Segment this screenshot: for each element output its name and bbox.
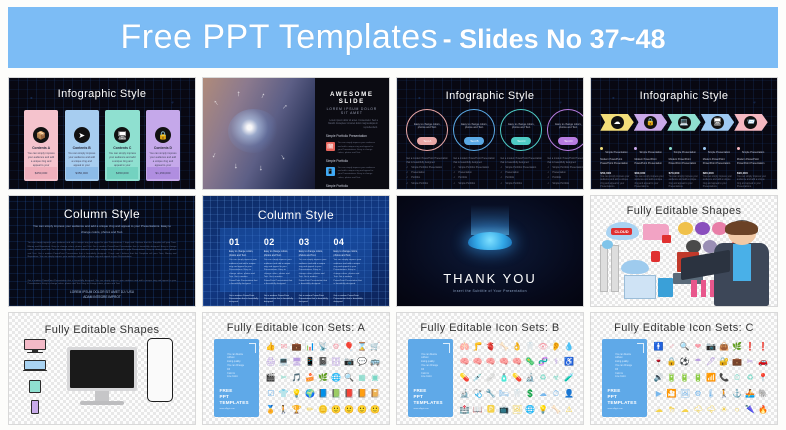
- legend-body: You can simply impress your audience and…: [669, 176, 700, 189]
- icon-camera-icon: 📷: [344, 358, 354, 366]
- icon-brain1-icon: 🧠: [460, 358, 470, 366]
- circle-item[interactable]: Easy to change colors, photos and Text. …: [500, 109, 542, 185]
- icon-brain4-icon: 🧠: [499, 358, 509, 366]
- icon-animal-icon: 🐘: [758, 390, 768, 398]
- icon-thermometer-icon: 🌡: [706, 390, 716, 398]
- icon-padlock-icon: 🔐: [719, 358, 729, 366]
- slide-title: Column Style: [203, 208, 389, 222]
- icon-stethoscope-icon: 🩺: [473, 390, 483, 398]
- icon-exclaim-icon: ❗: [745, 343, 755, 351]
- legend-dot: [600, 147, 603, 150]
- laptop-shape: [624, 275, 656, 299]
- legend-sub2: PowerPoint Presentation: [634, 162, 665, 166]
- icon-chart-icon: 📊: [305, 343, 315, 351]
- card-footer: $250,000: [25, 167, 57, 179]
- legend-heading: Simple Presentation: [742, 151, 764, 154]
- legend-value: $70,000: [669, 171, 700, 175]
- slide-grid: Infographic Style 📦 Contents A You can s…: [8, 77, 778, 425]
- legend-sub2: PowerPoint Presentation: [703, 162, 734, 166]
- ring-text: Easy to change colors, photos and Text.: [548, 123, 583, 131]
- icon-globe2-icon: 🌍: [305, 390, 315, 398]
- info-card[interactable]: 🖥 Contents C You can simply impress your…: [105, 110, 139, 181]
- slide-thumbnail-42[interactable]: Column Style 01 Easy to change colors, p…: [202, 195, 390, 308]
- legend-heading: Simple Presentation: [708, 151, 730, 154]
- bullet: Simple Portfolio: [500, 182, 542, 186]
- slide-subtitle: LOREM IPSUM DOLOR SIT AMET: [326, 107, 378, 115]
- column-item[interactable]: 01 Easy to change colors, photos and Tex…: [229, 237, 258, 292]
- legend-value: $50,000: [600, 171, 631, 175]
- icon-bed-icon: 🛏: [499, 390, 509, 398]
- icon-rain-icon: 🌩: [693, 406, 703, 414]
- slide-thumbnail-39[interactable]: Infographic Style Easy to change colors,…: [396, 77, 584, 190]
- card-lines: You can Resize without losing quality. Y…: [421, 354, 440, 380]
- businesswoman-illustration: [710, 222, 773, 306]
- card-brand: FREE PPT TEMPLATES: [220, 388, 249, 407]
- slide-canvas: Infographic Style ☁ 🔒 💻 🖥 📨: [591, 78, 777, 189]
- footer-line-2: ADAM INTEGRE IMPROT: [9, 295, 195, 300]
- icon-scissors-icon: ✂: [747, 358, 754, 366]
- slide-title: AWESOME SLIDE: [326, 91, 378, 105]
- icon-checkbox-icon: ☑: [267, 390, 274, 398]
- slide-title: Fully Editable Icon Sets: C: [591, 322, 777, 334]
- icon-pen-icon: 🖊: [706, 358, 716, 366]
- column-heading: Easy to change colors, photos and Text.: [299, 250, 328, 257]
- corner-decoration: [249, 343, 256, 353]
- icon-warning-icon: ⚠: [565, 406, 572, 414]
- icon-manual-icon: 📖: [473, 406, 483, 414]
- icon-id-icon: 🅿: [487, 406, 495, 414]
- header-banner: Free PPT Templates - Slides No 37~48: [8, 7, 778, 68]
- icon-wheelchair-icon: ♿: [564, 358, 574, 366]
- light-beam: [471, 205, 508, 236]
- monitor-icon: 🖥: [114, 127, 130, 143]
- circle-item[interactable]: Easy to change colors, photos and Text. …: [406, 109, 448, 185]
- legend-value: $60,000: [634, 171, 665, 175]
- icon-globe-icon: 🌐: [331, 374, 341, 382]
- legend-sub2: PowerPoint Presentation: [600, 162, 631, 166]
- slide-thumbnail-45[interactable]: Fully Editable Shapes: [8, 312, 196, 425]
- arrow-icon: ↑: [234, 162, 238, 171]
- page-title: Free PPT Templates - Slides No 37~48: [121, 18, 666, 57]
- icon-medal-icon: 🏅: [266, 406, 276, 414]
- circle-item[interactable]: Easy to change colors, photos and Text. …: [547, 109, 583, 185]
- slide-title: THANK YOU: [397, 271, 583, 286]
- legend-body: You can simply impress your audience and…: [634, 176, 665, 189]
- package-icon: 📦: [33, 127, 49, 143]
- arrow-step[interactable]: 📨: [734, 114, 767, 131]
- icon-clock-icon: ⏱: [553, 390, 559, 398]
- column-item[interactable]: 04 Easy to change colors, photos and Tex…: [334, 237, 363, 292]
- slide-canvas: ↑ ↑ ↑ ↑ ↑ ↑ ↑ ↑ AWESOME SLIDE LOREM IPSU…: [203, 78, 389, 189]
- icon-laptop-icon: 💻: [279, 358, 289, 366]
- column-number: 01: [229, 237, 258, 247]
- smartphone: [147, 338, 173, 402]
- bullet: Portfolio: [406, 176, 448, 180]
- icon-smiley3-icon: 🙂: [357, 406, 367, 414]
- lead-text: Lorem ipsum dolor sit amet. Consectetur.…: [326, 120, 378, 130]
- icon-balloon-icon: 🎈: [344, 343, 354, 351]
- column-number: 03: [299, 237, 328, 247]
- arrow-row: ☁ 🔒 💻 🖥 📨: [600, 111, 767, 133]
- icon-gender-icon: ♂: [669, 343, 675, 351]
- text-panel: AWESOME SLIDE LOREM IPSUM DOLOR SIT AMET…: [315, 78, 389, 189]
- lock-icon: 🔒: [155, 127, 171, 143]
- ring-pill: Text D: [558, 137, 578, 145]
- icon-restroom-icon: 🚹: [654, 343, 664, 351]
- slide-canvas: Fully Editable Icon Sets: C You can Resi…: [591, 313, 777, 424]
- icon-grid: 🫁 🦵 🫀 🦴 👌 🦷 👁 👂 💧 🧠 🧠 🧠 🧠 🧠 🦠 🧬: [458, 339, 575, 418]
- robot-arm-shape: [658, 278, 673, 298]
- icon-leaf-icon: 🌿: [318, 374, 328, 382]
- arrow-step[interactable]: ☁: [600, 114, 633, 131]
- icon-tool-icon: 🔧: [486, 390, 496, 398]
- icon-ribs-icon: 🦷: [525, 343, 535, 351]
- slide-subtitle: Insert the Subtitle of Your Presentation: [397, 289, 583, 293]
- icon-archive-icon: 🗄: [331, 358, 341, 366]
- icon-briefcase-icon: 💼: [292, 343, 302, 351]
- card-footer: $350,000: [66, 167, 98, 179]
- icon-mail-icon: ✉: [281, 343, 288, 351]
- icon-scissors-icon: ✂: [281, 374, 288, 382]
- icon-frame-icon: ▣: [371, 374, 379, 382]
- ladder-shape: [611, 245, 619, 291]
- column-number: 02: [264, 237, 293, 247]
- slide-canvas: Column Style 01 Easy to change colors, p…: [203, 196, 389, 307]
- card-footer: $450,000: [107, 167, 139, 179]
- bullet: Simple Portfolio Presentation: [500, 166, 542, 170]
- column-footer: Get a modern PowerPoint Presentation tha…: [264, 295, 293, 305]
- icon-microscope-icon: 🔬: [525, 374, 535, 382]
- icon-cloud2-icon: ☁: [681, 406, 689, 414]
- icon-trophy-icon: 🏆: [292, 406, 302, 414]
- circle-body: Get a modern PowerPoint Presentation tha…: [500, 157, 542, 185]
- circle-body: Get a modern PowerPoint Presentation tha…: [453, 157, 495, 185]
- slide-canvas: Infographic Style 📦 Contents A You can s…: [9, 78, 195, 189]
- card-url: www.allppt.com: [414, 408, 429, 410]
- antenna-shape: [701, 280, 707, 298]
- cloud-icon: [468, 232, 513, 250]
- icon-hourglass-icon: ⌛: [357, 343, 367, 351]
- bullet: Simple Portfolio Presentation: [406, 166, 448, 170]
- info-card[interactable]: ➤ Contents B You can simply impress your…: [65, 110, 99, 181]
- info-card[interactable]: 📦 Contents A You can simply impress your…: [24, 110, 58, 181]
- monitor-base: [80, 401, 125, 405]
- icon-lotion-icon: 🧴: [499, 374, 509, 382]
- slide-title: Infographic Style: [397, 90, 583, 102]
- card-brand: FREE PPT TEMPLATES: [608, 388, 637, 407]
- bullet: Portfolio: [547, 176, 583, 180]
- icon-smiley1-icon: 🙂: [331, 406, 341, 414]
- column-body: You can simply impress your audience and…: [334, 259, 363, 286]
- column-heading: Easy to change colors, photos and Text.: [229, 250, 258, 257]
- bullet: Presentation: [500, 171, 542, 175]
- icon-eye-icon: 👁: [538, 343, 548, 351]
- item-label: Simple Portfolio Presentation: [326, 134, 378, 138]
- arrow-step[interactable]: 🔒: [634, 114, 667, 131]
- footer-text: LOREM IPSUM DOLOR SIT AMET DJ / USU ADAM…: [9, 290, 195, 301]
- icon-wine-icon: 🍷: [654, 358, 664, 366]
- column-number: 04: [334, 237, 363, 247]
- icon-phone-icon: 📱: [305, 358, 315, 366]
- cloud-icon: ☁: [611, 116, 624, 129]
- icon-signal-icon: 📶: [706, 374, 716, 382]
- slide-thumbnail-43[interactable]: THANK YOU Insert the Subtitle of Your Pr…: [396, 195, 584, 308]
- icon-lamp-icon: 💡: [538, 406, 548, 414]
- legend-row: Simple Presentation Modern PowerPoint Po…: [600, 140, 767, 189]
- icon-ear-icon: 👂: [551, 343, 561, 351]
- lock-icon: 🔒: [644, 116, 657, 129]
- icon-pencil-icon: ✏: [307, 406, 314, 414]
- icon-battery2-icon: 🔋: [680, 374, 690, 382]
- bullet: Simple Portfolio: [547, 182, 583, 186]
- slide-thumbnail-41[interactable]: Column Style You can simply impress your…: [8, 195, 196, 308]
- bullet: Simple Portfolio Presentation: [547, 166, 583, 170]
- icon-antenna-icon: 📡: [318, 343, 328, 351]
- slide-thumbnail-40[interactable]: Infographic Style ☁ 🔒 💻 🖥 📨: [590, 77, 778, 190]
- circle-body: Get a modern PowerPoint Presentation tha…: [547, 157, 583, 185]
- arrow-icon: ↑: [210, 151, 217, 161]
- worker-icon: [602, 240, 613, 249]
- icon-cloud-icon: ☁: [539, 390, 547, 398]
- slide-canvas: Fully Editable Shapes CLOUD CLOUD: [591, 196, 777, 307]
- icon-case-icon: 💼: [732, 358, 742, 366]
- slide-title: Infographic Style: [591, 90, 777, 102]
- legend-item: Simple Presentation Modern PowerPoint Po…: [600, 140, 631, 189]
- slide-thumbnail-46[interactable]: Fully Editable Icon Sets: A You can Resi…: [202, 312, 390, 425]
- icon-boat-icon: 🚣: [745, 390, 755, 398]
- slide-thumbnail-44[interactable]: Fully Editable Shapes CLOUD CLOUD: [590, 195, 778, 308]
- slide-title: Fully Editable Shapes: [9, 324, 195, 336]
- icon-search-icon: 🔍: [680, 343, 690, 351]
- icon-camera-icon: 📷: [706, 343, 716, 351]
- info-card-panel: You can Resize without losing quality. Y…: [602, 339, 647, 418]
- column-body: You can simply impress your audience and…: [299, 259, 328, 286]
- monitor-neck: [95, 391, 110, 401]
- slide-thumbnail-37[interactable]: Infographic Style 📦 Contents A You can s…: [8, 77, 196, 190]
- info-card[interactable]: 🔒 Contents D You can simply impress your…: [146, 110, 180, 181]
- card-lines: You can Resize without losing quality. Y…: [615, 354, 634, 380]
- arrow-icon: ↑: [281, 102, 290, 111]
- icon-bag-icon: 👜: [719, 343, 729, 351]
- legend-dot: [669, 147, 672, 150]
- icon-gear-icon: ⚙: [332, 343, 339, 351]
- icon-bone-icon: 🦴: [499, 343, 509, 351]
- column-body: You can simply impress your audience and…: [229, 259, 258, 286]
- legend-item: Simple Presentation Modern PowerPoint Po…: [634, 140, 665, 189]
- phone-mini-icon: [31, 400, 38, 414]
- icon-thumbsup-icon: 👍: [266, 343, 276, 351]
- info-card-panel: You can Resize without losing quality. Y…: [214, 339, 259, 418]
- arrow-icon: ↑: [279, 153, 287, 163]
- arrow-icon: ↑: [259, 91, 266, 101]
- icon-testtube-icon: 🧪: [564, 374, 574, 382]
- column-item[interactable]: 02 Easy to change colors, photos and Tex…: [264, 237, 293, 292]
- icon-exclaim2-icon: ❗: [758, 343, 768, 351]
- ring-shape: Easy to change colors, photos and Text. …: [453, 109, 495, 151]
- slide-canvas: Column Style You can simply impress your…: [9, 196, 195, 307]
- icon-sun-icon: ☀: [720, 406, 727, 414]
- icon-plant-icon: 🌿: [732, 343, 742, 351]
- ring-pill: Text C: [511, 137, 531, 145]
- laptop-mini-icon: [24, 360, 46, 374]
- icon-recycle-icon: ♻: [746, 374, 753, 382]
- slide-title: Fully Editable Shapes: [591, 205, 777, 217]
- icon-drop-icon: 💧: [564, 343, 574, 351]
- icon-grid-icon: ▦: [358, 374, 366, 382]
- icon-notebook-icon: 📓: [318, 358, 328, 366]
- legend-value: $90,000: [737, 171, 768, 175]
- icon-leg-icon: 🦵: [473, 343, 483, 351]
- lead-text: You can simply impress your audience and…: [31, 224, 172, 234]
- icon-cake-icon: 🍰: [305, 374, 315, 382]
- legend-dot: [737, 147, 740, 150]
- icon-chat-icon: 💬: [357, 358, 367, 366]
- circle-item[interactable]: Easy to change colors, photos and Text. …: [453, 109, 495, 185]
- icon-play-icon: ▶: [656, 390, 662, 398]
- icon-storm-icon: ⛈: [669, 406, 675, 414]
- arrow-step[interactable]: 💻: [667, 114, 700, 131]
- icon-fire-icon: 🔥: [758, 406, 768, 414]
- icon-syringe-icon: 💉: [473, 374, 483, 382]
- card-footer: $1,159,000: [147, 167, 179, 179]
- card-brand: FREE PPT TEMPLATES: [414, 388, 443, 407]
- card-url: www.allppt.com: [220, 408, 235, 410]
- ring-pill: Text A: [417, 137, 437, 145]
- calendar-icon: 🗓: [326, 142, 335, 151]
- legend-heading: Simple Presentation: [605, 151, 627, 154]
- laptop-icon: 💻: [678, 116, 691, 129]
- legend-sub2: PowerPoint Presentation: [669, 162, 700, 166]
- server-icon: 🖥: [711, 116, 724, 129]
- icon-music-icon: 🎵: [292, 374, 302, 382]
- column-footer: Get a modern PowerPoint Presentation tha…: [229, 295, 258, 305]
- person-hair: [725, 221, 758, 235]
- ring-shape: Easy to change colors, photos and Text. …: [500, 109, 542, 151]
- item-body: You can simply impress your audience and…: [338, 142, 378, 155]
- arrow-icon: ↑: [259, 164, 263, 173]
- circle-desc: Get a modern PowerPoint Presentation tha…: [453, 157, 495, 164]
- icon-flask-icon: 🔬: [460, 390, 470, 398]
- ladder-shape: [600, 245, 608, 291]
- icon-gear-icon: ⚙: [694, 390, 701, 398]
- slide-title: Fully Editable Icon Sets: B: [397, 322, 583, 334]
- phone-icon: 📱: [326, 167, 335, 176]
- body-text-1: You can simply impress your audience and…: [28, 242, 177, 260]
- slide-thumbnail-38[interactable]: ↑ ↑ ↑ ↑ ↑ ↑ ↑ ↑ AWESOME SLIDE LOREM IPSU…: [202, 77, 390, 190]
- icon-limb-icon: 🦴: [551, 406, 561, 414]
- ring-text: Easy to change colors, photos and Text.: [407, 123, 447, 131]
- icon-anchor-icon: ⚓: [732, 390, 742, 398]
- icon-lungs-icon: 🫁: [460, 343, 470, 351]
- icon-film-icon: 🎬: [266, 374, 276, 382]
- legend-dot: [634, 147, 637, 150]
- bullet: Presentation: [406, 171, 448, 175]
- icon-walk-icon: 🚶: [719, 390, 729, 398]
- bullet: Simple Portfolio: [406, 182, 448, 186]
- column-heading: Easy to change colors, photos and Text.: [264, 250, 293, 257]
- legend-heading: Simple Presentation: [639, 151, 661, 154]
- icon-grid: 👍 ✉ 💼 📊 📡 ⚙ 🎈 ⌛ 🛒 🖨 💻 🖥 📱 📓 🗄 📷: [264, 339, 381, 418]
- icon-dna-icon: 🧬: [538, 358, 548, 366]
- arrow-step[interactable]: 🖥: [701, 114, 734, 131]
- ring-text: Easy to change colors, photos and Text.: [454, 123, 494, 131]
- arrow-icon: ↑: [212, 98, 220, 108]
- icon-video-icon: 🎦: [667, 390, 677, 398]
- battery-shape: [651, 251, 660, 262]
- icon-bus-icon: 🚌: [370, 358, 380, 366]
- legend-item: Simple Presentation Modern PowerPoint Po…: [737, 140, 768, 189]
- card-url: www.allppt.com: [608, 408, 623, 410]
- lock-shape: [662, 235, 671, 243]
- icon-cloud1-icon: ☁: [655, 406, 663, 414]
- circle-row: Easy to change colors, photos and Text. …: [406, 109, 573, 185]
- bullet: Portfolio: [500, 176, 542, 180]
- icon-brain3-icon: 🧠: [486, 358, 496, 366]
- column-heading: Easy to change colors, photos and Text.: [334, 250, 363, 257]
- slide-thumbnail-48[interactable]: Fully Editable Icon Sets: C You can Resi…: [590, 312, 778, 425]
- icon-moon-icon: ○: [735, 406, 740, 414]
- body-text-2: Get a modern PowerPoint Presentation tha…: [28, 280, 177, 287]
- ring-text: Easy to change colors, photos and Text.: [501, 123, 541, 131]
- column-panel: 01 Easy to change colors, photos and Tex…: [220, 228, 373, 292]
- slide-thumbnail-47[interactable]: Fully Editable Icon Sets: B You can Resi…: [396, 312, 584, 425]
- legend-item: Simple Presentation Modern PowerPoint Po…: [703, 140, 734, 189]
- icon-smiley4-icon: 🙂: [370, 406, 380, 414]
- icon-coin-icon: 🪙: [318, 406, 328, 414]
- icon-book5-icon: 📔: [370, 390, 380, 398]
- mail-icon: 📨: [744, 116, 757, 129]
- antenna-shape: [691, 280, 697, 298]
- icon-smiley2-icon: 🙂: [344, 406, 354, 414]
- icon-cart-icon: 🛒: [370, 343, 380, 351]
- icon-pin-icon: 📍: [758, 374, 768, 382]
- icon-umbrella-icon: ☂: [694, 358, 701, 366]
- header-title-main: Free PPT Templates: [121, 18, 439, 56]
- icon-shirt-icon: 👕: [279, 390, 289, 398]
- ring-shape: Easy to change colors, photos and Text. …: [406, 109, 448, 151]
- cloud-label: CLOUD: [611, 228, 631, 235]
- laptop-photo: ↑ ↑ ↑ ↑ ↑ ↑ ↑ ↑: [203, 78, 315, 189]
- icon-book2-icon: 📗: [331, 390, 341, 398]
- legend-dot: [703, 147, 706, 150]
- card-row: 📦 Contents A You can simply impress your…: [24, 110, 180, 181]
- icon-medical-icon: ⚕: [554, 358, 558, 366]
- circle-desc: Get a modern PowerPoint Presentation tha…: [406, 157, 448, 164]
- column-body: You can simply impress your audience and…: [264, 259, 293, 286]
- card-lines: You can Resize without losing quality. Y…: [227, 354, 246, 380]
- info-card-panel: You can Resize without losing quality. Y…: [408, 339, 453, 418]
- corner-decoration: [443, 343, 450, 353]
- ring-pill: Text B: [464, 137, 484, 145]
- icon-book4-icon: 📙: [357, 390, 367, 398]
- corner-decoration: [637, 343, 644, 353]
- feature-item: 📱 You can simply impress your audience a…: [326, 167, 378, 180]
- icon-brain5-icon: 🧠: [512, 358, 522, 366]
- arrow-icon: ↑: [236, 89, 240, 98]
- avatar-icon: [695, 222, 710, 235]
- icon-person-icon: 🚶: [279, 406, 289, 414]
- icon-web-icon: 🌐: [525, 406, 535, 414]
- page-root: Free PPT Templates - Slides No 37~48 Inf…: [0, 0, 786, 430]
- column-item[interactable]: 03 Easy to change colors, photos and Tex…: [299, 237, 328, 292]
- icon-dollar-icon: 💲: [525, 390, 535, 398]
- icon-clock-icon: ⏱: [734, 374, 740, 382]
- slide-canvas: THANK YOU Insert the Subtitle of Your Pr…: [397, 196, 583, 307]
- legend-body: You can simply impress your audience and…: [703, 176, 734, 189]
- slide-title: Column Style: [9, 207, 195, 221]
- icon-screen-icon: 📺: [499, 406, 509, 414]
- legend-value: $80,000: [703, 171, 734, 175]
